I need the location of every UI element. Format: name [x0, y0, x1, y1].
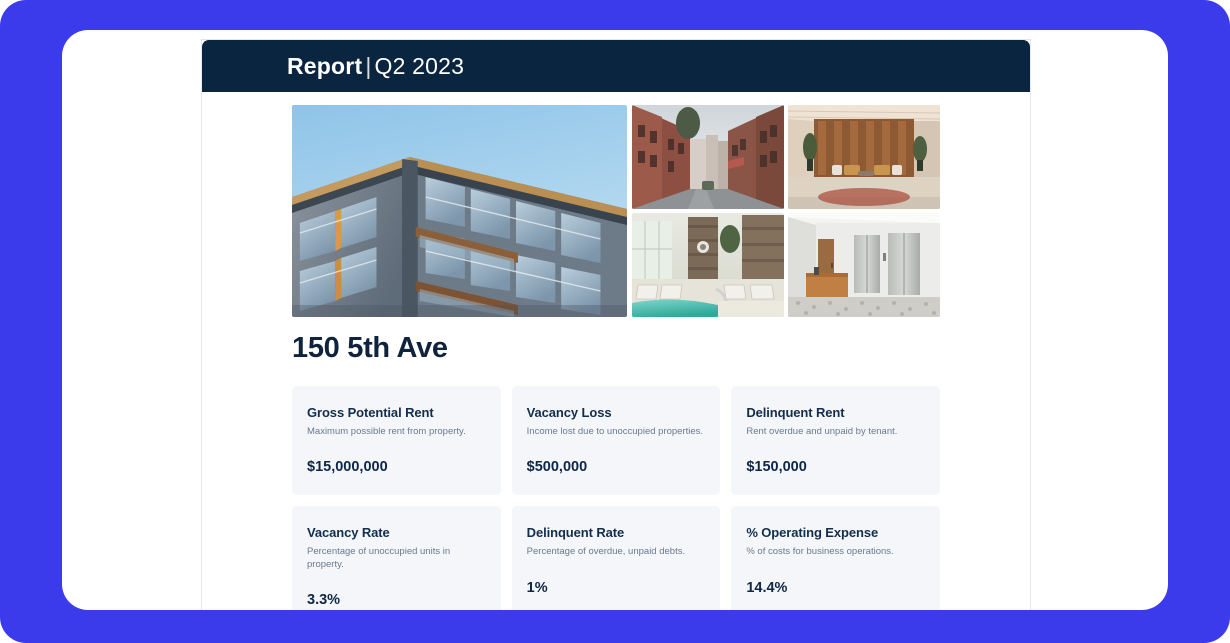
- metric-label: Vacancy Rate: [307, 525, 486, 540]
- lobby-lounge-photo[interactable]: [788, 105, 940, 209]
- report-title-strong: Report: [287, 53, 362, 79]
- metric-card-delinquent-rate[interactable]: Delinquent Rate Percentage of overdue, u…: [512, 506, 721, 610]
- building-exterior-image: [292, 105, 627, 317]
- metric-card-vacancy-loss[interactable]: Vacancy Loss Income lost due to unoccupi…: [512, 386, 721, 495]
- metric-value: $15,000,000: [307, 459, 486, 475]
- report-document-panel: Report|Q2 2023: [202, 40, 1030, 610]
- hallway-elevator-image: [788, 213, 940, 317]
- metrics-grid: Gross Potential Rent Maximum possible re…: [292, 386, 940, 610]
- white-surface: Report|Q2 2023: [62, 30, 1168, 610]
- report-title-separator: |: [362, 53, 374, 79]
- metric-label: Gross Potential Rent: [307, 405, 486, 420]
- metric-description: Percentage of unoccupied units in proper…: [307, 546, 486, 571]
- app-frame: Report|Q2 2023: [0, 0, 1230, 643]
- metric-value: 3.3%: [307, 592, 486, 608]
- metric-description: Rent overdue and unpaid by tenant.: [746, 426, 925, 438]
- metric-card-operating-expense[interactable]: % Operating Expense % of costs for busin…: [731, 506, 940, 610]
- hallway-elevator-photo[interactable]: [788, 213, 940, 317]
- lobby-lounge-image: [788, 105, 940, 209]
- metric-description: Maximum possible rent from property.: [307, 426, 486, 438]
- metric-value: 14.4%: [746, 580, 925, 596]
- pool-area-image: [632, 213, 784, 317]
- report-title-period: Q2 2023: [375, 53, 465, 79]
- report-body: 150 5th Ave Gross Potential Rent Maximum…: [202, 92, 1030, 610]
- page-title: Report|Q2 2023: [287, 53, 464, 80]
- thumbnail-grid: [632, 105, 940, 317]
- street-view-image: [632, 105, 784, 209]
- metric-card-vacancy-rate[interactable]: Vacancy Rate Percentage of unoccupied un…: [292, 506, 501, 610]
- property-address-title: 150 5th Ave: [292, 332, 940, 365]
- metric-description: Percentage of overdue, unpaid debts.: [527, 546, 706, 558]
- metric-label: Vacancy Loss: [527, 405, 706, 420]
- metric-label: Delinquent Rent: [746, 405, 925, 420]
- street-view-photo[interactable]: [632, 105, 784, 209]
- metric-value: 1%: [527, 580, 706, 596]
- metric-description: Income lost due to unoccupied properties…: [527, 426, 706, 438]
- metric-description: % of costs for business operations.: [746, 546, 925, 558]
- metric-card-delinquent-rent[interactable]: Delinquent Rent Rent overdue and unpaid …: [731, 386, 940, 495]
- report-header-bar: Report|Q2 2023: [202, 40, 1030, 92]
- metric-label: % Operating Expense: [746, 525, 925, 540]
- metric-value: $150,000: [746, 459, 925, 475]
- building-exterior-photo[interactable]: [292, 105, 627, 317]
- pool-area-photo[interactable]: [632, 213, 784, 317]
- metric-card-gross-potential-rent[interactable]: Gross Potential Rent Maximum possible re…: [292, 386, 501, 495]
- property-photo-gallery: [292, 105, 940, 317]
- metric-label: Delinquent Rate: [527, 525, 706, 540]
- metric-value: $500,000: [527, 459, 706, 475]
